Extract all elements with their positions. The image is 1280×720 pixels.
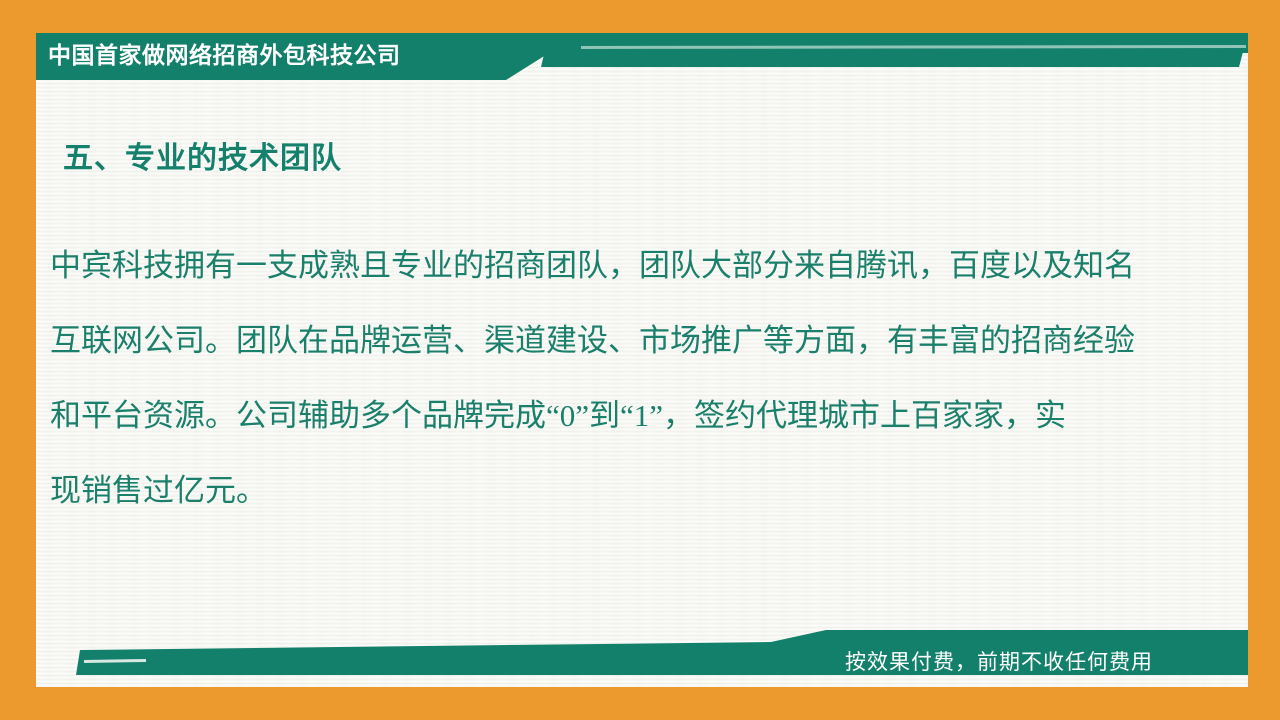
- page-title: 五、专业的技术团队: [63, 133, 342, 177]
- body-paragraph: 中宾科技拥有一支成熟且专业的招商团队，团队大部分来自腾讯，百度以及知名 互联网公…: [50, 228, 1185, 528]
- footer-tagline: 按效果付费，前期不收任何费用: [845, 648, 1205, 678]
- body-line-4: 现销售过亿元。: [50, 453, 1185, 528]
- body-line-1: 中宾科技拥有一支成熟且专业的招商团队，团队大部分来自腾讯，百度以及知名: [50, 228, 1185, 303]
- presentation-slide: 中国首家做网络招商外包科技公司 五、专业的技术团队 中宾科技拥有一支成熟且专业的…: [0, 0, 1280, 720]
- header-title: 中国首家做网络招商外包科技公司: [48, 37, 568, 73]
- body-line-2: 互联网公司。团队在品牌运营、渠道建设、市场推广等方面，有丰富的招商经验: [50, 303, 1185, 378]
- body-line-3: 和平台资源。公司辅助多个品牌完成“0”到“1”，签约代理城市上百家家，实: [50, 378, 1185, 453]
